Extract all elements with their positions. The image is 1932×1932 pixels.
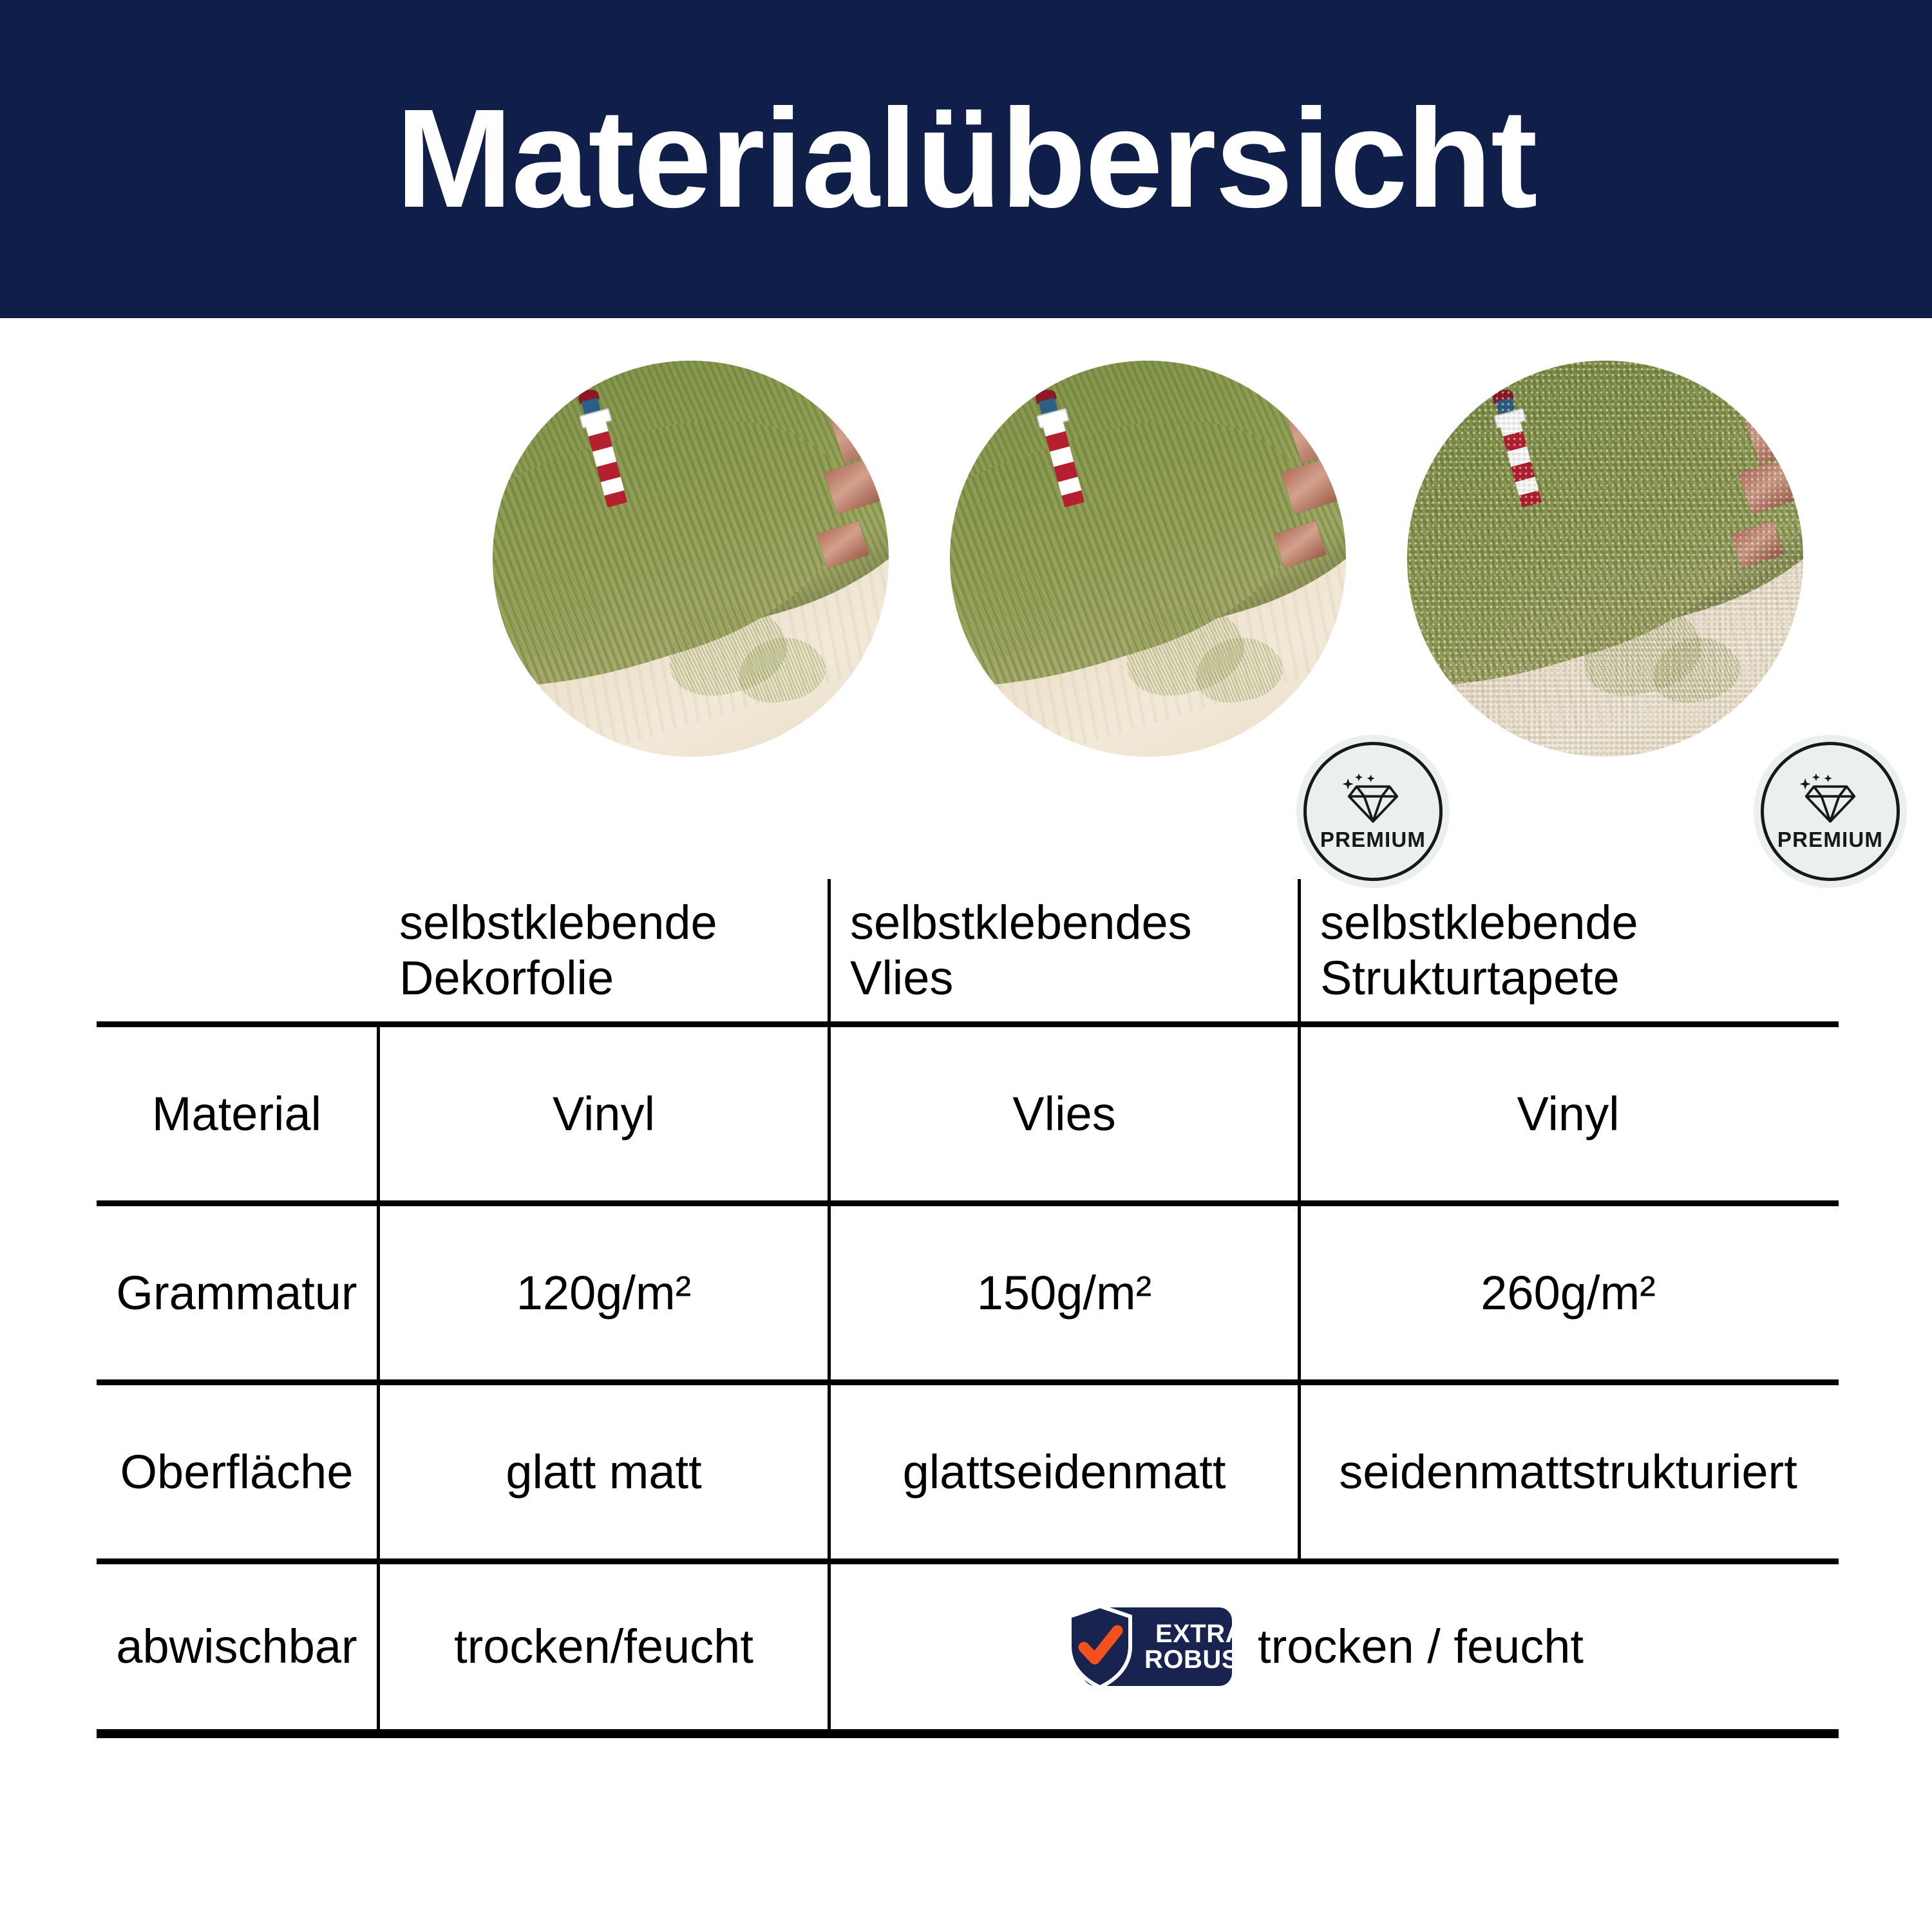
column-title-line2: Dekorfolie bbox=[399, 951, 717, 1006]
extra-robust-badge: EXTRA ROBUST bbox=[1083, 1607, 1232, 1686]
row-label-abwischbar: abwischbar bbox=[97, 1564, 380, 1729]
extra-robust-label: EXTRA ROBUST bbox=[1144, 1621, 1255, 1672]
cell-material-dekorfolie: Vinyl bbox=[380, 1027, 831, 1200]
cell-material-vlies: Vlies bbox=[831, 1027, 1301, 1200]
column-title-line2: Strukturtapete bbox=[1320, 951, 1638, 1006]
table-header-dekorfolie: selbstklebende Dekorfolie bbox=[380, 879, 831, 1021]
diamond-icon bbox=[1340, 773, 1406, 824]
premium-badge-label: PREMIUM bbox=[1777, 829, 1883, 850]
page-title: Materialübersicht bbox=[395, 89, 1536, 229]
material-comparison-table: selbstklebende Dekorfolie selbstklebende… bbox=[97, 879, 1839, 1738]
table-header-corner bbox=[97, 879, 380, 1021]
product-photo-strukturtapete bbox=[1407, 361, 1803, 757]
product-photo-dekorfolie bbox=[493, 361, 889, 757]
row-label-oberflaeche: Oberfläche bbox=[97, 1385, 380, 1558]
table-row-grammatur: Grammatur 120g/m² 150g/m² 260g/m² bbox=[97, 1206, 1839, 1385]
cell-abwischbar-merged: EXTRA ROBUST trocken / feucht bbox=[831, 1564, 1835, 1729]
table-row-abwischbar: abwischbar trocken/feucht EXTRA ROBUST t… bbox=[97, 1564, 1839, 1738]
shield-check-icon bbox=[1066, 1604, 1134, 1690]
cell-abwischbar-merged-text: trocken / feucht bbox=[1258, 1619, 1584, 1674]
header-banner: Materialübersicht bbox=[0, 0, 1932, 318]
premium-badge-strukturtapete: PREMIUM bbox=[1761, 742, 1900, 881]
wallpaper-texture-dots bbox=[1407, 361, 1803, 757]
cell-grammatur-strukturtapete: 260g/m² bbox=[1301, 1206, 1835, 1379]
product-circle-dekorfolie[interactable] bbox=[493, 361, 889, 757]
product-circle-vlies[interactable] bbox=[950, 361, 1346, 757]
premium-badge-vlies: PREMIUM bbox=[1303, 742, 1443, 881]
robust-line-2: ROBUST bbox=[1144, 1647, 1255, 1672]
product-circle-strukturtapete[interactable] bbox=[1407, 361, 1803, 757]
cell-grammatur-vlies: 150g/m² bbox=[831, 1206, 1301, 1379]
cell-abwischbar-dekorfolie: trocken/feucht bbox=[380, 1564, 831, 1729]
column-title-line2: Vlies bbox=[850, 951, 1192, 1006]
robust-line-1: EXTRA bbox=[1144, 1621, 1255, 1647]
cell-oberflaeche-vlies: glattseidenmatt bbox=[831, 1385, 1301, 1558]
table-header-strukturtapete: selbstklebende Strukturtapete bbox=[1301, 879, 1835, 1021]
cell-material-strukturtapete: Vinyl bbox=[1301, 1027, 1835, 1200]
premium-badge-label: PREMIUM bbox=[1320, 829, 1426, 850]
product-photo-vlies bbox=[950, 361, 1346, 757]
table-header-vlies: selbstklebendes Vlies bbox=[831, 879, 1301, 1021]
product-preview-row: PREMIUM PREMIUM bbox=[0, 361, 1932, 757]
table-row-oberflaeche: Oberfläche glatt matt glattseidenmatt se… bbox=[97, 1385, 1839, 1564]
cell-oberflaeche-dekorfolie: glatt matt bbox=[380, 1385, 831, 1558]
column-title-line1: selbstklebende bbox=[1320, 895, 1638, 951]
diamond-icon bbox=[1797, 773, 1864, 824]
row-label-material: Material bbox=[97, 1027, 380, 1200]
cell-oberflaeche-strukturtapete: seidenmattstrukturiert bbox=[1301, 1385, 1835, 1558]
table-header-row: selbstklebende Dekorfolie selbstklebende… bbox=[97, 879, 1839, 1027]
row-label-grammatur: Grammatur bbox=[97, 1206, 380, 1379]
cell-grammatur-dekorfolie: 120g/m² bbox=[380, 1206, 831, 1379]
column-title-line1: selbstklebendes bbox=[850, 895, 1192, 951]
table-row-material: Material Vinyl Vlies Vinyl bbox=[97, 1027, 1839, 1206]
column-title-line1: selbstklebende bbox=[399, 895, 717, 951]
